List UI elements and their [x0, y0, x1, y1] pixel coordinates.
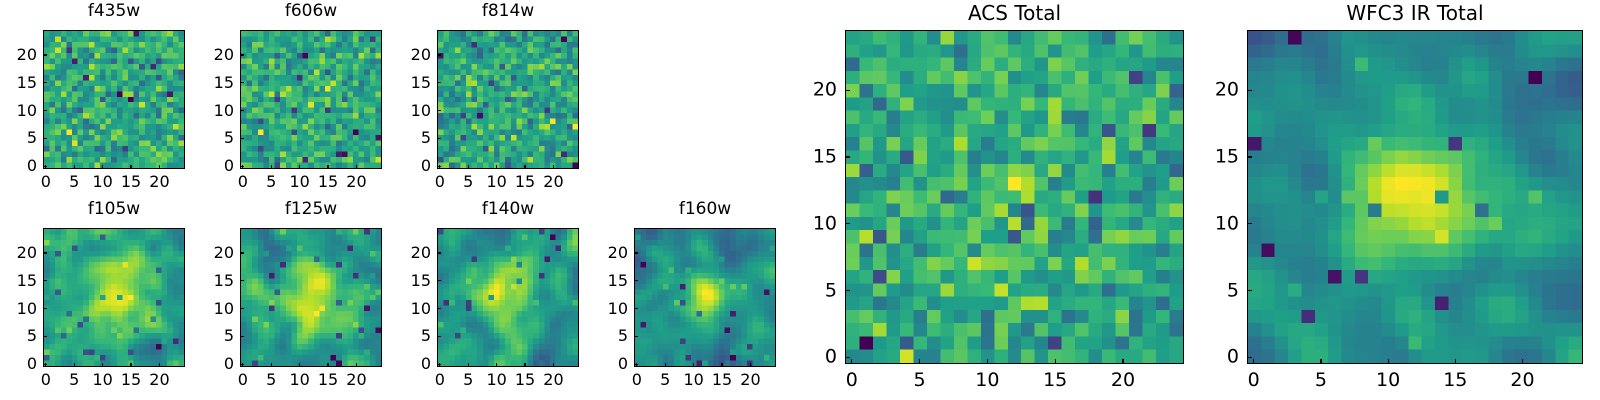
ytick-wfc3-ir-total-15 — [1247, 156, 1252, 157]
xtick-wfc3-ir-total-20 — [1522, 359, 1523, 364]
ytick-wfc3-ir-total-5 — [1247, 290, 1252, 291]
ytick-wfc3-ir-total-0 — [1247, 357, 1252, 358]
ytick-wfc3-ir-total-10 — [1247, 223, 1252, 224]
yticklabel-wfc3-ir-total-10: 10 — [1195, 214, 1239, 233]
xticklabel-wfc3-ir-total-10: 10 — [1376, 371, 1400, 390]
xtick-wfc3-ir-total-5 — [1320, 359, 1321, 364]
yticklabel-wfc3-ir-total-15: 15 — [1195, 147, 1239, 166]
ytick-wfc3-ir-total-20 — [1247, 90, 1252, 91]
yticklabel-wfc3-ir-total-20: 20 — [1195, 81, 1239, 100]
yticklabel-wfc3-ir-total-0: 0 — [1195, 348, 1239, 367]
panel-title-wfc3-ir-total: WFC3 IR Total — [1247, 3, 1583, 23]
xticklabel-wfc3-ir-total-0: 0 — [1248, 371, 1260, 390]
xtick-wfc3-ir-total-0 — [1253, 359, 1254, 364]
xticklabel-wfc3-ir-total-5: 5 — [1315, 371, 1327, 390]
xticklabel-wfc3-ir-total-15: 15 — [1443, 371, 1467, 390]
xtick-wfc3-ir-total-10 — [1388, 359, 1389, 364]
yticklabel-wfc3-ir-total-5: 5 — [1195, 281, 1239, 300]
heatmap-axes-wfc3-ir-total — [1247, 30, 1583, 364]
xticklabel-wfc3-ir-total-20: 20 — [1510, 371, 1534, 390]
heatmap-image-wfc3-ir-total — [1248, 31, 1582, 363]
figure-canvas: f435w0510152005101520f606w05101520051015… — [0, 0, 1600, 400]
xtick-wfc3-ir-total-15 — [1455, 359, 1456, 364]
panel-wfc3-ir-total: WFC3 IR Total0510152005101520 — [0, 0, 1600, 400]
